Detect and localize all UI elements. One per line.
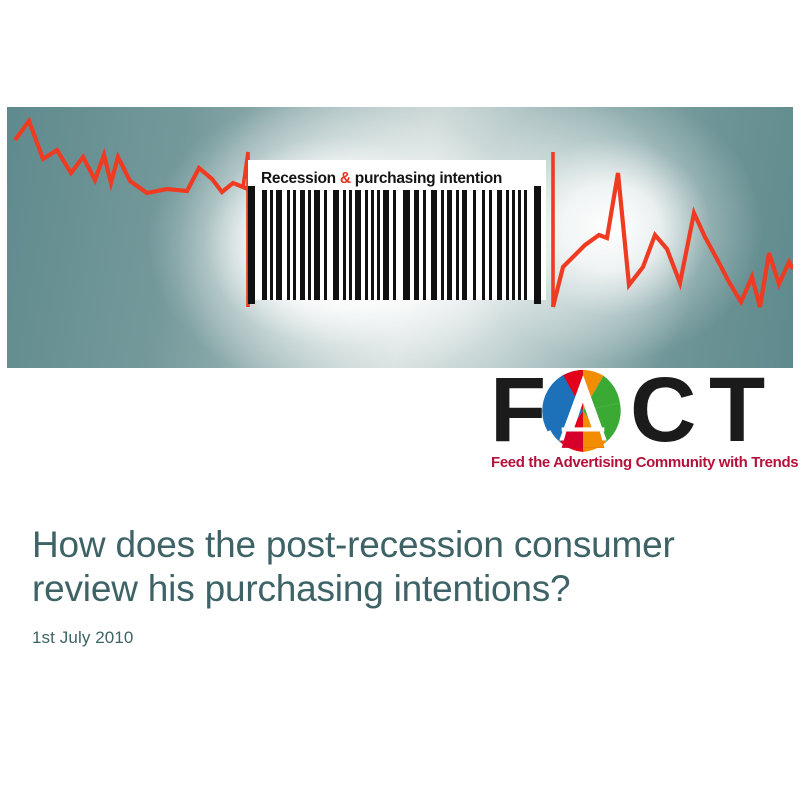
barcode-bar (441, 190, 444, 300)
barcode-bar (506, 190, 509, 300)
fact-letter-c: C (630, 364, 693, 456)
fact-letter-t: T (709, 364, 762, 456)
barcode-bar (414, 190, 419, 300)
barcode-bar (489, 190, 492, 300)
barcode-bar (423, 190, 426, 300)
barcode-bar (431, 190, 437, 300)
barcode-bar (333, 190, 339, 300)
barcode-bar (355, 190, 361, 300)
barcode-bar (270, 190, 273, 300)
fact-letter-f: F (490, 364, 543, 456)
barcode-headline-prefix: Recession (261, 170, 340, 187)
barcode-bar (293, 190, 296, 300)
barcode-bar (482, 190, 485, 300)
barcode-bar (447, 190, 452, 300)
fact-wordmark: F C T (487, 368, 793, 450)
fact-tagline: Feed the Advertising Community with Tren… (491, 454, 791, 471)
slide-date: 1st July 2010 (32, 628, 772, 648)
barcode-edge-bar-right (534, 186, 541, 304)
barcode-bar (349, 190, 352, 300)
barcode-bar (512, 190, 515, 300)
barcode-bar (497, 190, 502, 300)
barcode-bar (456, 190, 459, 300)
barcode-bar (276, 190, 282, 300)
barcode-headline: Recession & purchasing intention (261, 169, 533, 189)
barcode-headline-suffix: purchasing intention (351, 170, 502, 187)
title-block: How does the post-recession consumer rev… (32, 523, 772, 648)
barcode-bar (287, 190, 290, 300)
barcode-bar (343, 190, 346, 300)
barcode-bar (403, 190, 410, 300)
barcode-graphic: Recession & purchasing intention (241, 160, 553, 300)
barcode-bar (393, 190, 396, 300)
fact-logo: F C T (487, 368, 793, 478)
barcode-bars (248, 190, 546, 300)
slide-canvas: Recession & purchasing intention (0, 0, 800, 800)
barcode-bar (314, 190, 320, 300)
barcode-bar (473, 190, 476, 300)
barcode-bar (518, 190, 521, 300)
fact-colorwheel-a-icon (542, 370, 624, 452)
barcode-bar (462, 190, 467, 300)
barcode-bar (371, 190, 374, 300)
barcode-bar (383, 190, 389, 300)
barcode-edge-bar-left (248, 186, 255, 304)
barcode-bar (262, 190, 267, 300)
barcode-headline-ampersand: & (340, 170, 351, 187)
barcode-bar (300, 190, 305, 300)
page-title: How does the post-recession consumer rev… (32, 523, 772, 611)
barcode-bar (365, 190, 368, 300)
barcode-bar (308, 190, 311, 300)
barcode-bar (377, 190, 380, 300)
barcode-bar (324, 190, 327, 300)
barcode-bar (524, 190, 527, 300)
